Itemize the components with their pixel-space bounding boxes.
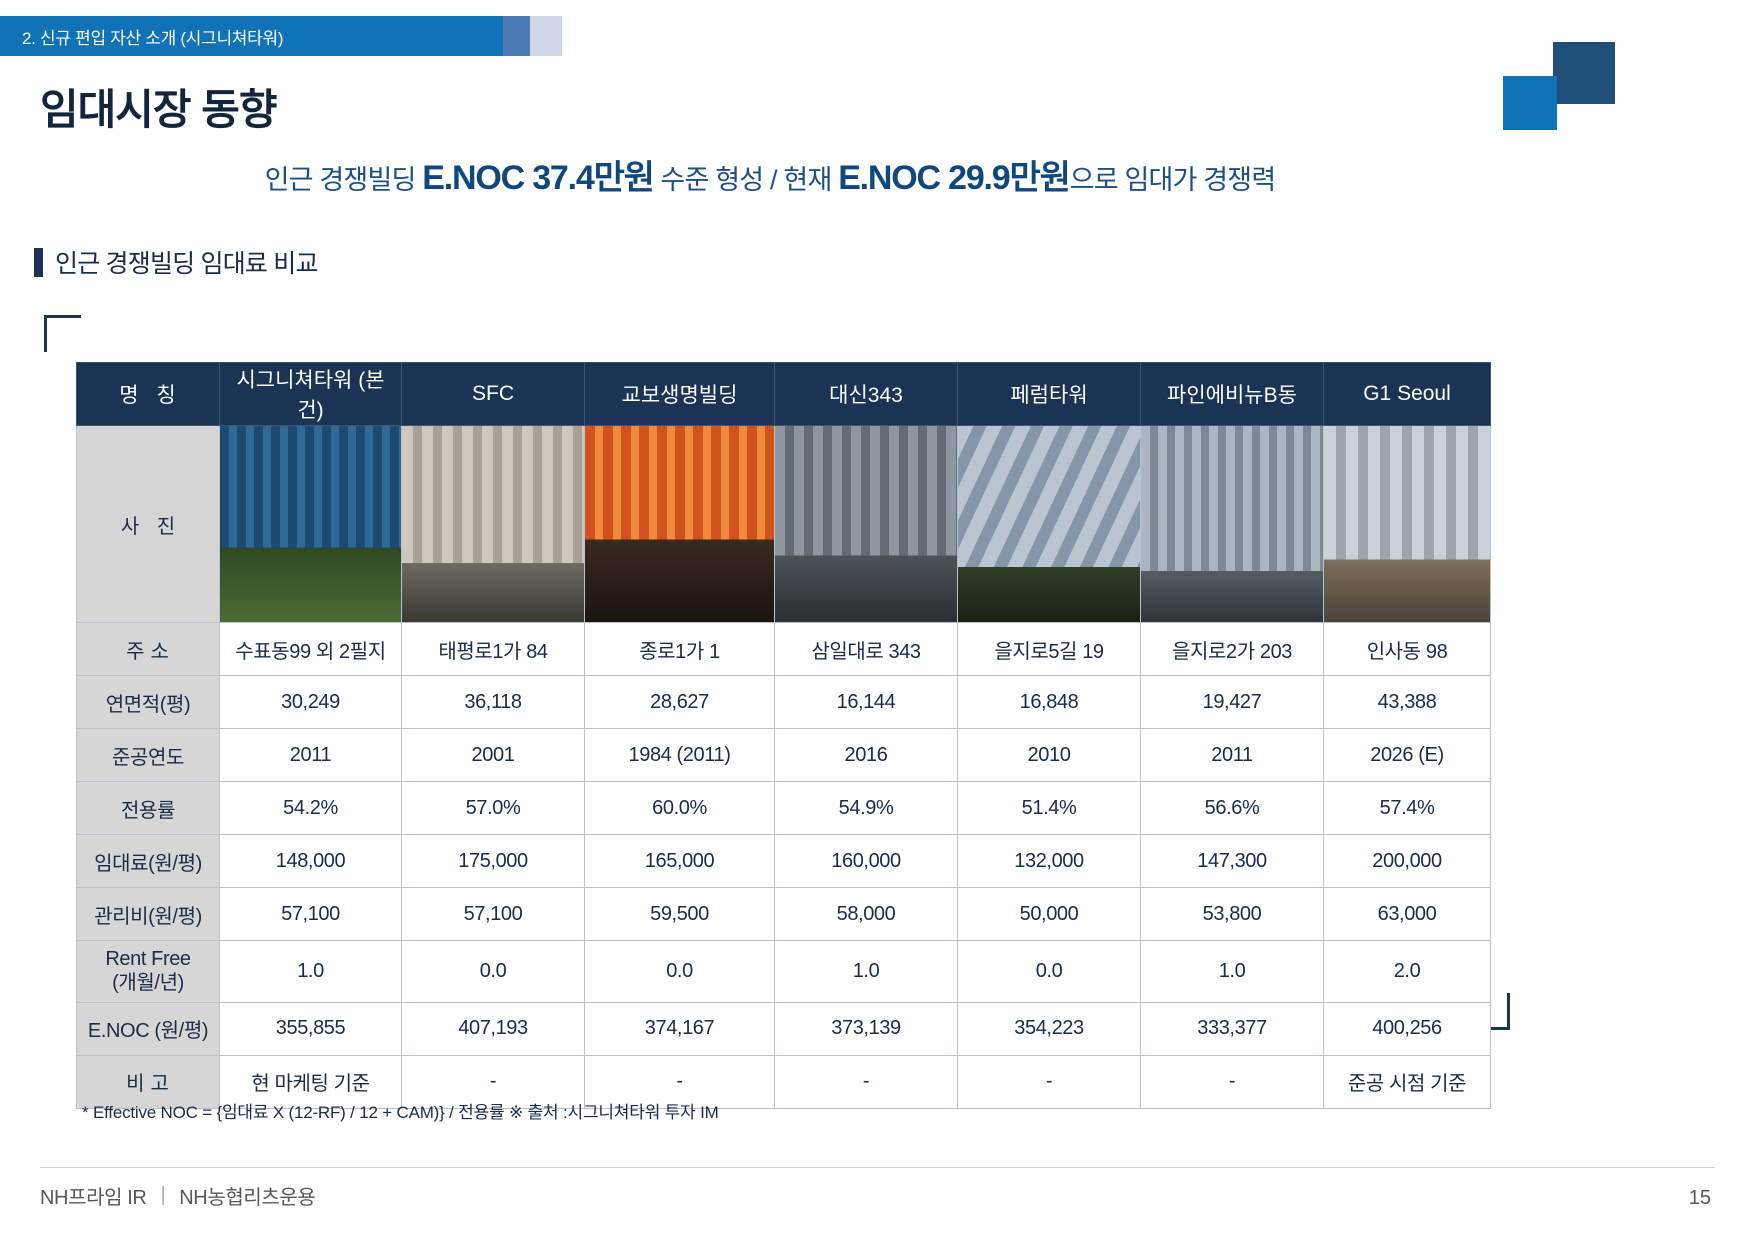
cell-remarks-6: 준공 시점 기준 xyxy=(1324,1055,1491,1108)
row-label-cam: 관리비(원/평) xyxy=(77,888,220,941)
table-row: 연면적(평) 30,249 36,118 28,627 16,144 16,84… xyxy=(77,676,1491,729)
subtitle-highlight-1: E.NOC 37.4만원 xyxy=(422,159,653,197)
table-footnote: * Effective NOC = {임대료 X (12-RF) / 12 + … xyxy=(82,1098,719,1123)
cell-efficiency-5: 56.6% xyxy=(1141,782,1324,835)
footer-separator: | xyxy=(160,1184,165,1207)
cell-rent-free-4: 0.0 xyxy=(958,941,1141,1003)
subtitle-highlight-2: E.NOC 29.9만원 xyxy=(838,159,1069,197)
cell-gross-area-6: 43,388 xyxy=(1324,676,1491,729)
row-label-enoc: E.NOC (원/평) xyxy=(77,1002,220,1055)
cell-rent-3: 160,000 xyxy=(775,835,958,888)
photo-cell-ferrum-tower xyxy=(958,426,1141,623)
cell-address-5: 을지로2가 203 xyxy=(1141,623,1324,676)
cell-cam-3: 58,000 xyxy=(775,888,958,941)
column-header-name: 명 칭 xyxy=(77,363,220,426)
table-row: 임대료(원/평) 148,000 175,000 165,000 160,000… xyxy=(77,835,1491,888)
cell-enoc-3: 373,139 xyxy=(775,1002,958,1055)
cell-rent-free-5: 1.0 xyxy=(1141,941,1324,1003)
photo-cell-pine-avenue-b xyxy=(1141,426,1324,623)
cell-gross-area-3: 16,144 xyxy=(775,676,958,729)
cell-remarks-3: - xyxy=(775,1055,958,1108)
building-photo-signature-tower xyxy=(220,426,401,622)
page-subtitle: 인근 경쟁빌딩 E.NOC 37.4만원 수준 형성 / 현재 E.NOC 29… xyxy=(0,150,1540,199)
cell-address-3: 삼일대로 343 xyxy=(775,623,958,676)
cell-enoc-5: 333,377 xyxy=(1141,1002,1324,1055)
row-label-rent-free: Rent Free (개월/년) xyxy=(77,941,220,1003)
subtitle-text-2: 수준 형성 / 현재 xyxy=(654,165,838,195)
subtitle-text-3: 으로 임대가 경쟁력 xyxy=(1070,165,1276,195)
cell-cam-1: 57,100 xyxy=(402,888,585,941)
row-label-rent: 임대료(원/평) xyxy=(77,835,220,888)
logo-mark xyxy=(1503,42,1615,130)
cell-gross-area-1: 36,118 xyxy=(402,676,585,729)
cell-remarks-4: - xyxy=(958,1055,1141,1108)
cell-rent-free-1: 0.0 xyxy=(402,941,585,1003)
column-header-kyobo: 교보생명빌딩 xyxy=(585,363,775,426)
cell-gross-area-5: 19,427 xyxy=(1141,676,1324,729)
building-photo-ferrum-tower xyxy=(958,426,1140,622)
footer-branding: NH프라임 IR | NH농협리츠운용 xyxy=(40,1181,315,1210)
page-number: 15 xyxy=(1689,1187,1711,1210)
section-heading: 인근 경쟁빌딩 임대료 비교 xyxy=(34,244,318,280)
column-header-pine-avenue-b: 파인에비뉴B동 xyxy=(1141,363,1324,426)
comparison-table-container: 명 칭 시그니쳐타워 (본 건) SFC 교보생명빌딩 대신343 페럼타워 파… xyxy=(76,362,1490,1109)
cell-completion-year-5: 2011 xyxy=(1141,729,1324,782)
cell-gross-area-4: 16,848 xyxy=(958,676,1141,729)
cell-efficiency-2: 60.0% xyxy=(585,782,775,835)
cell-cam-5: 53,800 xyxy=(1141,888,1324,941)
breadcrumb-bar: 2. 신규 편입 자산 소개 (시그니쳐타워) xyxy=(0,16,562,56)
cell-completion-year-3: 2016 xyxy=(775,729,958,782)
cell-rent-free-6: 2.0 xyxy=(1324,941,1491,1003)
cell-completion-year-1: 2001 xyxy=(402,729,585,782)
row-label-rent-free-line2: (개월/년) xyxy=(77,971,219,995)
table-row: E.NOC (원/평) 355,855 407,193 374,167 373,… xyxy=(77,1002,1491,1055)
logo-square-dark xyxy=(1553,42,1615,104)
building-photo-daishin343 xyxy=(775,426,957,622)
cell-enoc-1: 407,193 xyxy=(402,1002,585,1055)
breadcrumb: 2. 신규 편입 자산 소개 (시그니쳐타워) xyxy=(0,16,503,56)
cell-completion-year-0: 2011 xyxy=(220,729,402,782)
photo-cell-kyobo xyxy=(585,426,775,623)
footer-label-right: NH농협리츠운용 xyxy=(179,1181,315,1210)
row-label-address: 주소 xyxy=(77,623,220,676)
building-photo-pine-avenue-b xyxy=(1141,426,1323,622)
photo-cell-daishin343 xyxy=(775,426,958,623)
cell-rent-0: 148,000 xyxy=(220,835,402,888)
cell-address-2: 종로1가 1 xyxy=(585,623,775,676)
row-label-gross-area: 연면적(평) xyxy=(77,676,220,729)
cell-efficiency-6: 57.4% xyxy=(1324,782,1491,835)
photo-cell-signature-tower xyxy=(220,426,402,623)
building-photo-g1-seoul xyxy=(1324,426,1490,622)
table-row: 관리비(원/평) 57,100 57,100 59,500 58,000 50,… xyxy=(77,888,1491,941)
photo-cell-g1-seoul xyxy=(1324,426,1491,623)
cell-gross-area-0: 30,249 xyxy=(220,676,402,729)
cell-cam-0: 57,100 xyxy=(220,888,402,941)
cell-enoc-6: 400,256 xyxy=(1324,1002,1491,1055)
table-row-photo: 사 진 xyxy=(77,426,1491,623)
cell-efficiency-1: 57.0% xyxy=(402,782,585,835)
row-label-photo: 사 진 xyxy=(77,426,220,623)
subtitle-text-1: 인근 경쟁빌딩 xyxy=(265,165,423,195)
table-body: 사 진 xyxy=(77,426,1491,1109)
table-row: 주소 수표동99 외 2필지 태평로1가 84 종로1가 1 삼일대로 343 … xyxy=(77,623,1491,676)
cell-rent-2: 165,000 xyxy=(585,835,775,888)
cell-gross-area-2: 28,627 xyxy=(585,676,775,729)
cell-rent-free-3: 1.0 xyxy=(775,941,958,1003)
cell-efficiency-3: 54.9% xyxy=(775,782,958,835)
cell-address-4: 을지로5길 19 xyxy=(958,623,1141,676)
row-label-efficiency-ratio: 전용률 xyxy=(77,782,220,835)
column-header-g1-seoul: G1 Seoul xyxy=(1324,363,1491,426)
cell-rent-6: 200,000 xyxy=(1324,835,1491,888)
cell-rent-free-0: 1.0 xyxy=(220,941,402,1003)
cell-rent-4: 132,000 xyxy=(958,835,1141,888)
logo-square-blue xyxy=(1503,76,1557,130)
cell-address-0: 수표동99 외 2필지 xyxy=(220,623,402,676)
cell-remarks-5: - xyxy=(1141,1055,1324,1108)
section-bullet-icon xyxy=(34,248,43,277)
row-label-rent-free-line1: Rent Free xyxy=(77,947,219,971)
cell-completion-year-2: 1984 (2011) xyxy=(585,729,775,782)
table-row: 전용률 54.2% 57.0% 60.0% 54.9% 51.4% 56.6% … xyxy=(77,782,1491,835)
building-photo-kyobo xyxy=(585,426,774,622)
cell-cam-2: 59,500 xyxy=(585,888,775,941)
cell-efficiency-0: 54.2% xyxy=(220,782,402,835)
breadcrumb-chip-medium xyxy=(503,16,530,56)
table-header: 명 칭 시그니쳐타워 (본 건) SFC 교보생명빌딩 대신343 페럼타워 파… xyxy=(77,363,1491,426)
cell-rent-1: 175,000 xyxy=(402,835,585,888)
cell-completion-year-6: 2026 (E) xyxy=(1324,729,1491,782)
section-title: 인근 경쟁빌딩 임대료 비교 xyxy=(55,244,318,280)
comparison-table: 명 칭 시그니쳐타워 (본 건) SFC 교보생명빌딩 대신343 페럼타워 파… xyxy=(76,362,1491,1109)
cell-address-6: 인사동 98 xyxy=(1324,623,1491,676)
row-label-completion-year: 준공연도 xyxy=(77,729,220,782)
cell-cam-4: 50,000 xyxy=(958,888,1141,941)
column-header-sfc: SFC xyxy=(402,363,585,426)
cell-address-1: 태평로1가 84 xyxy=(402,623,585,676)
photo-cell-sfc xyxy=(402,426,585,623)
breadcrumb-chip-light xyxy=(530,16,562,56)
cell-efficiency-4: 51.4% xyxy=(958,782,1141,835)
footer-divider xyxy=(40,1167,1715,1168)
cell-cam-6: 63,000 xyxy=(1324,888,1491,941)
building-photo-sfc xyxy=(402,426,584,622)
frame-corner-top-left xyxy=(44,315,81,352)
cell-completion-year-4: 2010 xyxy=(958,729,1141,782)
table-header-row: 명 칭 시그니쳐타워 (본 건) SFC 교보생명빌딩 대신343 페럼타워 파… xyxy=(77,363,1491,426)
page-title: 임대시장 동향 xyxy=(40,76,277,137)
cell-enoc-0: 355,855 xyxy=(220,1002,402,1055)
footer-label-left: NH프라임 IR xyxy=(40,1181,146,1210)
cell-enoc-4: 354,223 xyxy=(958,1002,1141,1055)
cell-enoc-2: 374,167 xyxy=(585,1002,775,1055)
table-row: Rent Free (개월/년) 1.0 0.0 0.0 1.0 0.0 1.0… xyxy=(77,941,1491,1003)
column-header-daishin343: 대신343 xyxy=(775,363,958,426)
column-header-ferrum-tower: 페럼타워 xyxy=(958,363,1141,426)
table-row: 준공연도 2011 2001 1984 (2011) 2016 2010 201… xyxy=(77,729,1491,782)
column-header-signature-tower: 시그니쳐타워 (본 건) xyxy=(220,363,402,426)
cell-rent-5: 147,300 xyxy=(1141,835,1324,888)
cell-rent-free-2: 0.0 xyxy=(585,941,775,1003)
